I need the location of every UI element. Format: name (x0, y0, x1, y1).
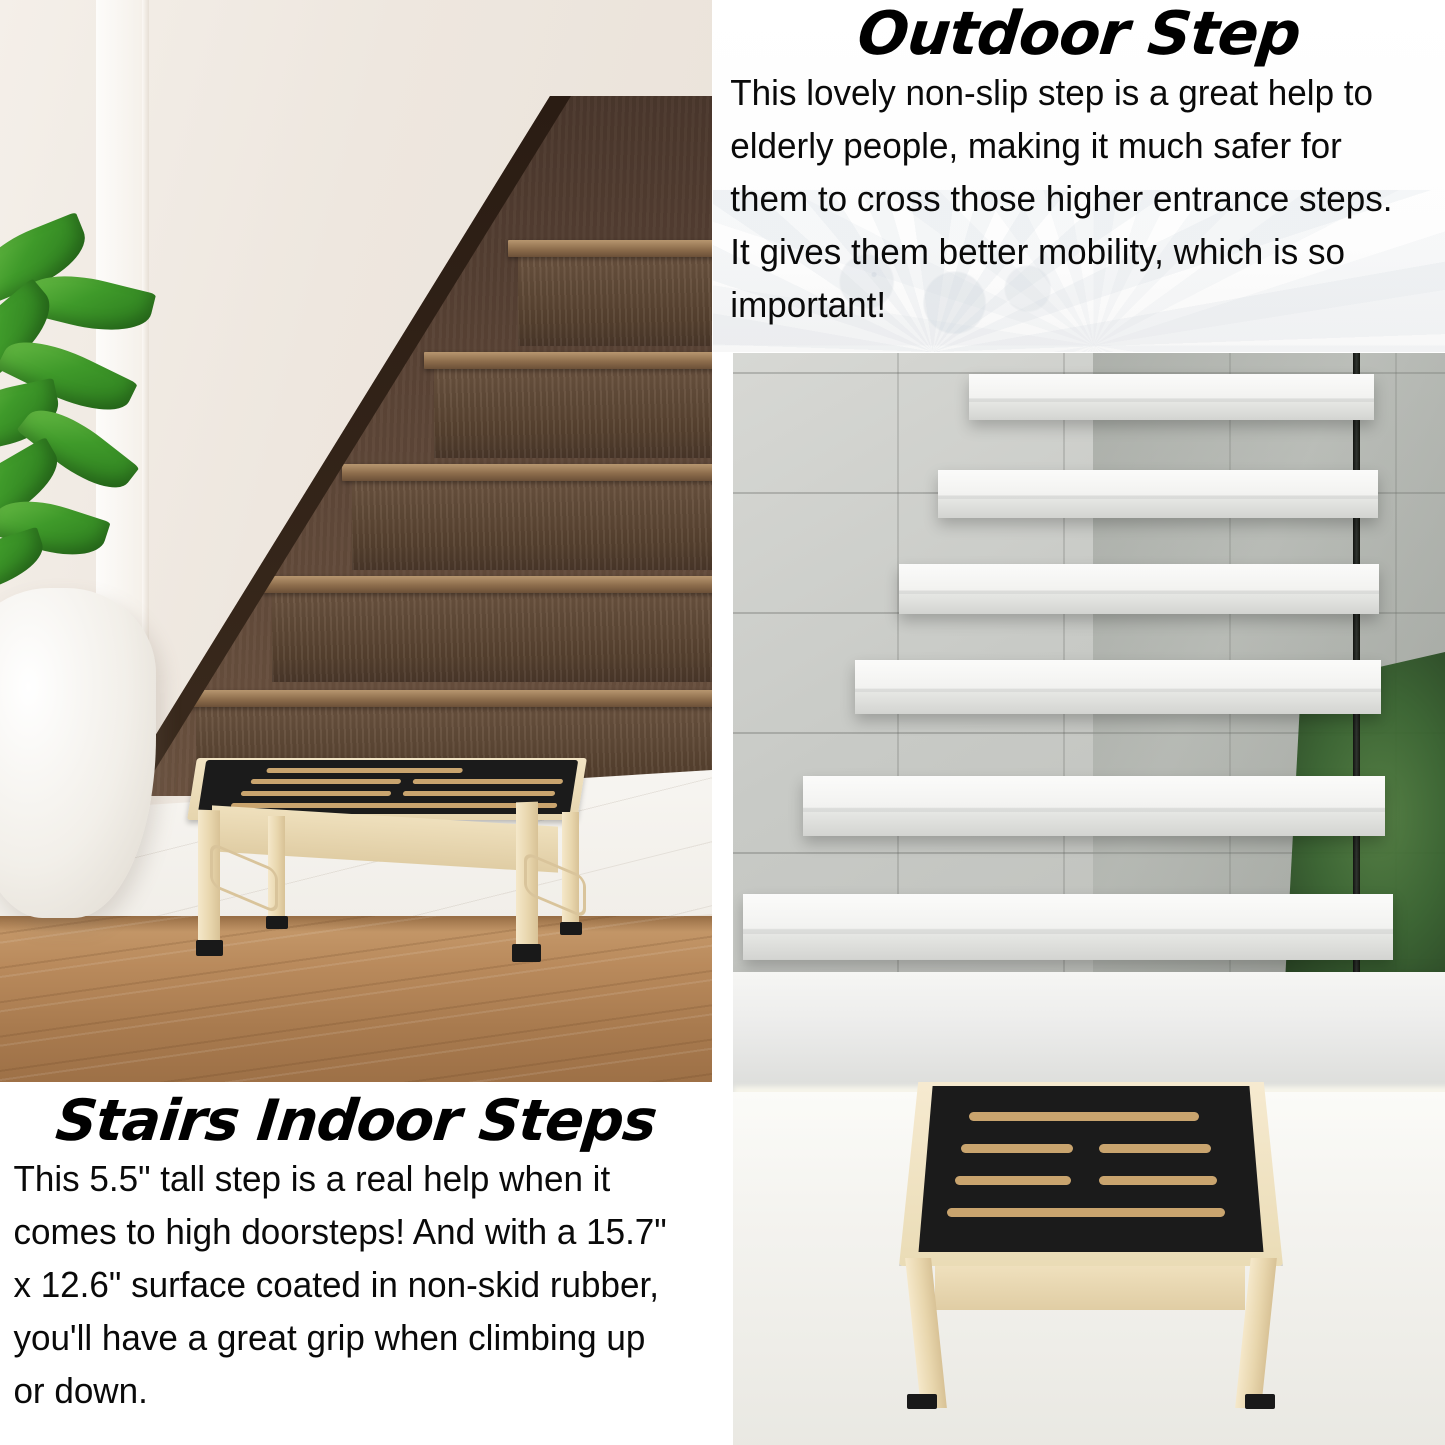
outdoor-step-title: Outdoor Step (710, 0, 1445, 66)
stool-groove (947, 1208, 1225, 1217)
stool-groove (969, 1112, 1199, 1121)
stool-foot (560, 922, 582, 935)
indoor-stair-riser-2 (272, 586, 712, 682)
outdoor-stair-tread-3 (855, 660, 1381, 714)
stool-apron (935, 1266, 1245, 1310)
stool-groove (403, 791, 556, 796)
stool-groove (955, 1176, 1071, 1185)
stool-foot (266, 916, 288, 929)
stool-groove (1099, 1176, 1217, 1185)
indoor-steps-description: This 5.5" tall step is a real help when … (0, 1152, 684, 1417)
infographic-canvas: Outdoor Step This lovely non-slip step i… (0, 0, 1445, 1445)
stool-rubber-pad (915, 1086, 1267, 1252)
outdoor-scene-photo (733, 352, 1445, 1445)
outdoor-stair-tread-2 (803, 776, 1385, 836)
indoor-stair-tread-3 (342, 464, 712, 481)
stool-groove (961, 1144, 1073, 1153)
step-stool-outdoor (899, 1082, 1289, 1402)
stool-groove (1099, 1144, 1211, 1153)
stool-foot (907, 1394, 937, 1409)
indoor-scene-photo (0, 0, 712, 1082)
outdoor-stair-tread-6 (969, 374, 1374, 420)
outdoor-stair-tread-5 (938, 470, 1378, 518)
indoor-stair-tread-2 (262, 576, 712, 593)
stool-foot (196, 940, 223, 956)
stool-groove (241, 791, 392, 796)
stool-foot (512, 944, 541, 962)
outdoor-step-text-block: Outdoor Step This lovely non-slip step i… (713, 0, 1445, 352)
indoor-stair-tread-5 (508, 240, 712, 257)
stool-groove (250, 779, 401, 784)
outdoor-stair-tread-4 (899, 564, 1379, 614)
stool-groove (231, 803, 558, 808)
indoor-stair-tread-1 (186, 690, 712, 707)
indoor-stair-riser-3 (352, 474, 712, 570)
indoor-steps-title: Stairs Indoor Steps (0, 1082, 717, 1152)
indoor-steps-text-block: Stairs Indoor Steps This 5.5" tall step … (0, 1082, 713, 1445)
outdoor-stair-tread-1 (743, 894, 1393, 960)
outdoor-step-description: This lovely non-slip step is a great hel… (713, 66, 1416, 331)
indoor-stair-tread-4 (424, 352, 712, 369)
stool-foot (1245, 1394, 1275, 1409)
houseplant-foliage (0, 212, 224, 632)
indoor-stair-riser-5 (518, 250, 712, 346)
stool-groove (412, 779, 563, 784)
stool-groove (266, 768, 463, 773)
step-stool-indoor (186, 752, 594, 980)
indoor-stair-riser-4 (434, 362, 712, 458)
